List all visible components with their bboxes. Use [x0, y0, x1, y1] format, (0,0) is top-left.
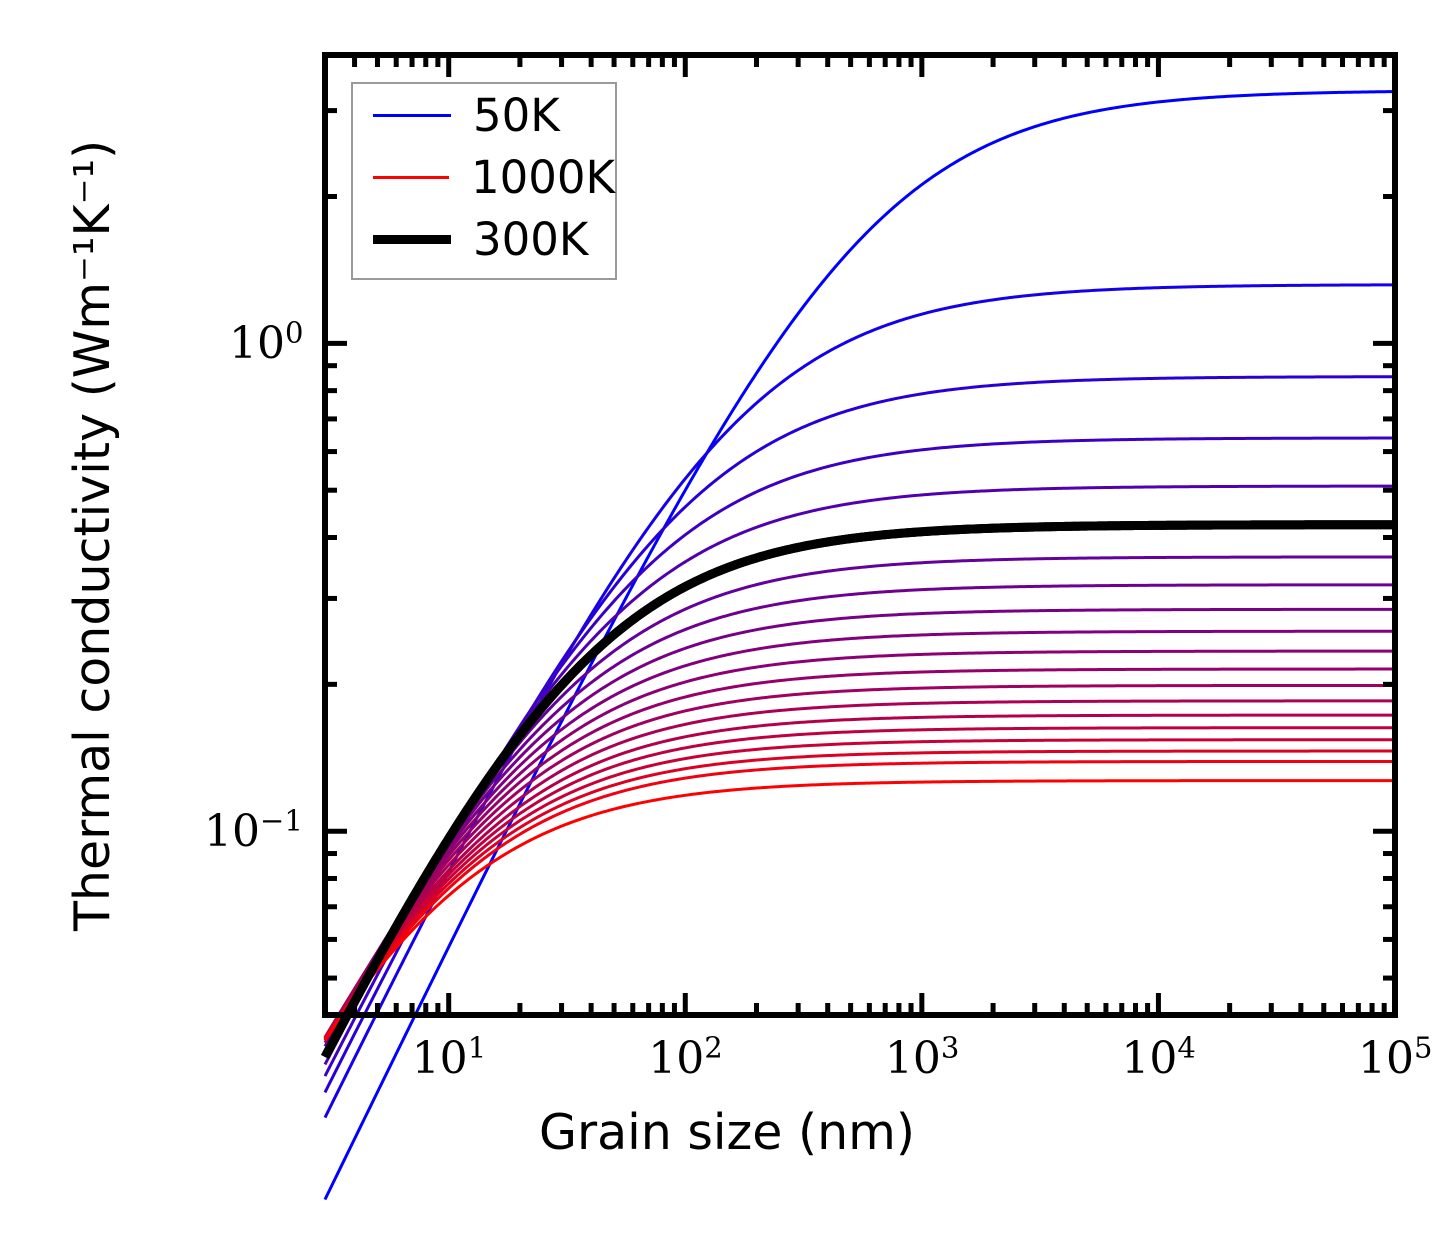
legend-line-swatch: [373, 176, 449, 179]
legend-label: 300K: [473, 217, 588, 262]
x-tick-label: 102: [648, 1033, 722, 1084]
x-tick-label: 104: [1121, 1033, 1195, 1084]
figure-canvas: Thermal conductivity (Wm⁻¹K⁻¹) Grain siz…: [0, 0, 1454, 1254]
legend-line-swatch: [373, 114, 451, 117]
legend-item[interactable]: 50K: [353, 84, 615, 146]
x-tick-label: 101: [412, 1033, 486, 1084]
curve-800k: [325, 728, 1395, 1039]
legend-line-swatch: [373, 235, 451, 244]
x-tick-label: 105: [1358, 1033, 1432, 1084]
legend-item[interactable]: 1000K: [353, 146, 615, 208]
y-tick-label: 100: [229, 318, 303, 369]
x-tick-label: 103: [885, 1033, 959, 1084]
curve-150k: [325, 377, 1395, 1093]
x-axis-label: Grain size (nm): [0, 1104, 1454, 1161]
legend-label: 50K: [473, 93, 560, 138]
curve-650k: [325, 685, 1395, 1037]
y-axis-label: Thermal conductivity (Wm⁻¹K⁻¹): [64, 139, 121, 930]
legend-item[interactable]: 300K: [353, 208, 615, 270]
legend: 50K1000K300K: [351, 82, 617, 280]
legend-label: 1000K: [471, 155, 615, 200]
y-tick-label: 10−1: [204, 806, 303, 857]
plot-svg: [0, 0, 1454, 1254]
